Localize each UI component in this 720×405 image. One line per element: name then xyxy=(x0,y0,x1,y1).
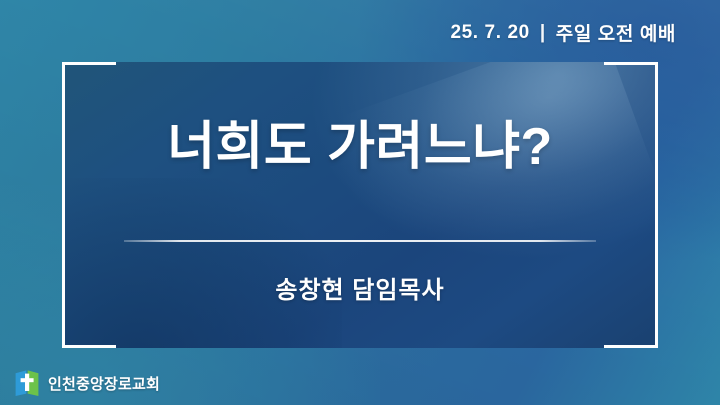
open-book-cross-icon xyxy=(14,369,40,397)
panel-shadow-bottom-left xyxy=(62,178,342,348)
service-date: 25. 7. 20 xyxy=(450,22,529,44)
title-divider xyxy=(124,240,596,242)
church-logo-lockup: 인천중앙장로교회 xyxy=(14,369,160,397)
service-name: 주일 오전 예배 xyxy=(556,19,676,46)
frame-corner-bottom-left xyxy=(62,345,116,348)
frame-rail-right xyxy=(655,62,658,348)
frame-corner-bottom-right xyxy=(604,345,658,348)
header-service-info: 25. 7. 20 | 주일 오전 예배 xyxy=(450,19,676,46)
sermon-title-slide: 25. 7. 20 | 주일 오전 예배 너희도 가려느냐? 송창현 담임목사 … xyxy=(0,0,720,405)
speaker-name: 송창현 담임목사 xyxy=(62,270,658,305)
frame-corner-top-left xyxy=(62,62,116,65)
frame-rail-left xyxy=(62,62,65,348)
content-panel xyxy=(62,62,658,348)
frame-corner-top-right xyxy=(604,62,658,65)
header-separator: | xyxy=(539,22,547,44)
church-name-label: 인천중앙장로교회 xyxy=(48,373,160,394)
sermon-title: 너희도 가려느냐? xyxy=(62,118,658,176)
